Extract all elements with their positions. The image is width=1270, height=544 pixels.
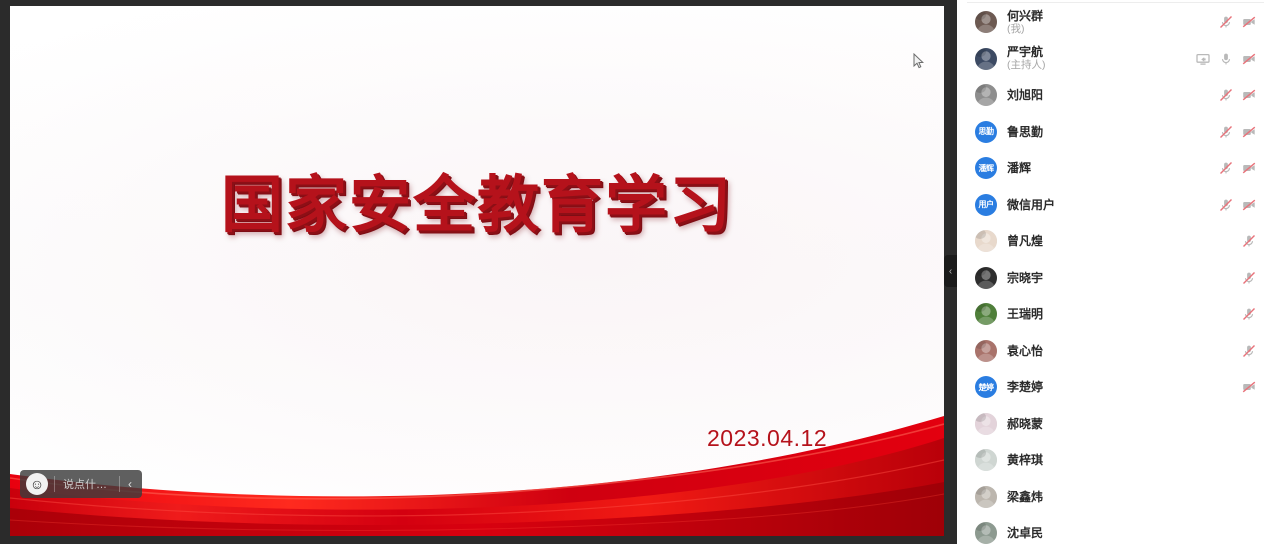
mic-muted-icon[interactable] [1219, 15, 1233, 29]
participant-status-icons [1242, 307, 1256, 321]
participant-role: (主持人) [1007, 59, 1046, 72]
meeting-window: 国家安全教育学习 2023.04.12 [0, 0, 1270, 544]
participant-status-icons [1219, 88, 1256, 102]
panel-top-divider [967, 2, 1264, 3]
participant-name: 曾凡煌 [1007, 234, 1043, 248]
participant-row[interactable]: 潘辉潘辉 [957, 150, 1270, 187]
camera-muted-icon[interactable] [1242, 125, 1256, 139]
avatar-photo [975, 522, 997, 544]
avatar [975, 486, 997, 508]
participant-name: 刘旭阳 [1007, 88, 1043, 102]
participant-row[interactable]: 宗晓宇 [957, 260, 1270, 297]
mic-muted-icon[interactable] [1242, 307, 1256, 321]
participant-role: (我) [1007, 23, 1043, 36]
mic-muted-icon[interactable] [1242, 344, 1256, 358]
participant-name: 何兴群 [1007, 9, 1043, 23]
avatar-photo [975, 11, 997, 33]
participant-row[interactable]: 王瑞明 [957, 296, 1270, 333]
participant-name-block: 李楚婷 [1007, 380, 1043, 394]
participant-name: 李楚婷 [1007, 380, 1043, 394]
participant-name-block: 郝晓蒙 [1007, 417, 1043, 431]
participants-list[interactable]: 何兴群(我)严宇航(主持人)刘旭阳思勤鲁思勤潘辉潘辉用户微信用户曾凡煌宗晓宇王瑞… [957, 4, 1270, 544]
participant-name: 严宇航 [1007, 45, 1046, 59]
avatar [975, 11, 997, 33]
participant-status-icons [1242, 234, 1256, 248]
red-ribbon-decoration [10, 416, 944, 536]
camera-muted-icon[interactable] [1242, 52, 1256, 66]
participant-name: 沈卓民 [1007, 526, 1043, 540]
participant-row[interactable]: 何兴群(我) [957, 4, 1270, 41]
shared-screen-stage: 国家安全教育学习 2023.04.12 [0, 0, 957, 544]
participant-name-block: 刘旭阳 [1007, 88, 1043, 102]
avatar [975, 48, 997, 70]
avatar [975, 84, 997, 106]
participant-row[interactable]: 曾凡煌 [957, 223, 1270, 260]
participant-name: 鲁思勤 [1007, 125, 1043, 139]
camera-muted-icon[interactable] [1242, 15, 1256, 29]
participant-row[interactable]: 严宇航(主持人) [957, 41, 1270, 78]
participant-name-block: 袁心怡 [1007, 344, 1043, 358]
chat-collapse-chevron-left-icon[interactable]: ‹ [120, 471, 140, 497]
mic-muted-icon[interactable] [1219, 125, 1233, 139]
avatar-initials: 用户 [975, 194, 997, 216]
chat-input[interactable]: 说点什么... [55, 476, 119, 492]
participant-status-icons [1196, 52, 1256, 66]
participant-status-icons [1219, 125, 1256, 139]
avatar-initials: 楚婷 [975, 376, 997, 398]
avatar-photo [975, 413, 997, 435]
participant-row[interactable]: 思勤鲁思勤 [957, 114, 1270, 151]
avatar: 潘辉 [975, 157, 997, 179]
participant-status-icons [1242, 380, 1256, 394]
smiley-icon[interactable]: ☺ [26, 473, 48, 495]
participant-status-icons [1242, 344, 1256, 358]
participant-name: 王瑞明 [1007, 307, 1043, 321]
mic-icon[interactable] [1219, 52, 1233, 66]
avatar [975, 267, 997, 289]
avatar-photo [975, 449, 997, 471]
participant-name: 宗晓宇 [1007, 271, 1043, 285]
participant-status-icons [1219, 15, 1256, 29]
avatar-photo [975, 340, 997, 362]
participant-name: 袁心怡 [1007, 344, 1043, 358]
avatar-initials: 潘辉 [975, 157, 997, 179]
participant-name-block: 何兴群(我) [1007, 9, 1043, 36]
participant-name-block: 潘辉 [1007, 161, 1031, 175]
avatar [975, 340, 997, 362]
mic-muted-icon[interactable] [1242, 271, 1256, 285]
participant-row[interactable]: 刘旭阳 [957, 77, 1270, 114]
participant-name: 潘辉 [1007, 161, 1031, 175]
avatar-photo [975, 84, 997, 106]
avatar [975, 413, 997, 435]
avatar-photo [975, 303, 997, 325]
participant-row[interactable]: 楚婷李楚婷 [957, 369, 1270, 406]
slide-title: 国家安全教育学习 [10, 174, 944, 236]
mic-muted-icon[interactable] [1219, 198, 1233, 212]
participant-row[interactable]: 郝晓蒙 [957, 406, 1270, 443]
avatar [975, 303, 997, 325]
participant-row[interactable]: 沈卓民 [957, 515, 1270, 544]
participant-row[interactable]: 梁鑫炜 [957, 479, 1270, 516]
participant-row[interactable]: 袁心怡 [957, 333, 1270, 370]
participant-name: 微信用户 [1007, 198, 1055, 212]
participant-status-icons [1219, 161, 1256, 175]
participant-name-block: 严宇航(主持人) [1007, 45, 1046, 72]
presentation-slide: 国家安全教育学习 2023.04.12 [10, 6, 944, 536]
avatar-photo [975, 267, 997, 289]
participant-name-block: 鲁思勤 [1007, 125, 1043, 139]
participant-name: 黄梓琪 [1007, 453, 1043, 467]
chat-composer-bar[interactable]: ☺ 说点什么... ‹ [20, 470, 142, 498]
participant-name-block: 沈卓民 [1007, 526, 1043, 540]
avatar-photo [975, 486, 997, 508]
mic-muted-icon[interactable] [1242, 234, 1256, 248]
mic-muted-icon[interactable] [1219, 88, 1233, 102]
camera-muted-icon[interactable] [1242, 88, 1256, 102]
camera-muted-icon[interactable] [1242, 161, 1256, 175]
avatar: 楚婷 [975, 376, 997, 398]
participants-panel: 何兴群(我)严宇航(主持人)刘旭阳思勤鲁思勤潘辉潘辉用户微信用户曾凡煌宗晓宇王瑞… [957, 0, 1270, 544]
avatar [975, 449, 997, 471]
panel-collapse-chevron-left-icon[interactable]: ‹ [944, 255, 957, 287]
screen-share-icon[interactable] [1196, 52, 1210, 66]
camera-muted-icon[interactable] [1242, 380, 1256, 394]
participant-name-block: 梁鑫炜 [1007, 490, 1043, 504]
avatar-photo [975, 230, 997, 252]
avatar-photo [975, 48, 997, 70]
participant-name-block: 宗晓宇 [1007, 271, 1043, 285]
participant-row[interactable]: 黄梓琪 [957, 442, 1270, 479]
participant-name-block: 王瑞明 [1007, 307, 1043, 321]
participant-status-icons [1242, 271, 1256, 285]
participant-name: 郝晓蒙 [1007, 417, 1043, 431]
participant-name-block: 微信用户 [1007, 198, 1055, 212]
participant-name-block: 曾凡煌 [1007, 234, 1043, 248]
avatar-initials: 思勤 [975, 121, 997, 143]
mic-muted-icon[interactable] [1219, 161, 1233, 175]
avatar [975, 230, 997, 252]
participant-name-block: 黄梓琪 [1007, 453, 1043, 467]
camera-muted-icon[interactable] [1242, 198, 1256, 212]
avatar: 用户 [975, 194, 997, 216]
participant-status-icons [1219, 198, 1256, 212]
avatar: 思勤 [975, 121, 997, 143]
participant-row[interactable]: 用户微信用户 [957, 187, 1270, 224]
participant-name: 梁鑫炜 [1007, 490, 1043, 504]
avatar [975, 522, 997, 544]
